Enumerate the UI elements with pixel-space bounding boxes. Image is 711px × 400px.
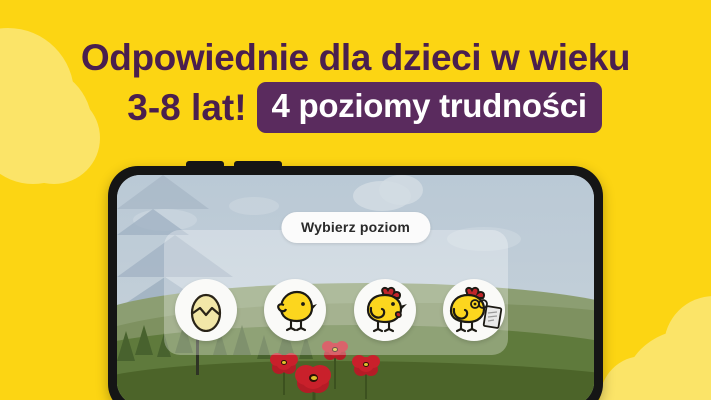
headline-block: Odpowiednie dla dzieci w wieku 3-8 lat! … <box>0 36 711 133</box>
level-button-2[interactable] <box>264 279 326 341</box>
pine-tree-icon <box>135 325 153 355</box>
poppy-flower <box>353 355 379 397</box>
poppy-stamen <box>282 361 286 364</box>
phone-mockup: Wybierz poziom <box>108 166 603 400</box>
poppy-flower <box>295 365 333 400</box>
headline-line-1: Odpowiednie dla dzieci w wieku <box>0 36 711 80</box>
level-select-title: Wybierz poziom <box>281 212 430 243</box>
level-button-3[interactable] <box>354 279 416 341</box>
difficulty-levels-badge: 4 poziomy trudności <box>257 82 602 133</box>
headline-line-2: 3-8 lat! 4 poziomy trudności <box>0 82 711 133</box>
decorative-blob <box>664 296 711 396</box>
age-range-text: 3-8 lat! <box>127 86 246 130</box>
hen-icon <box>360 285 410 335</box>
poppy-stamen <box>364 363 368 366</box>
chick-icon <box>272 287 318 333</box>
poppy-stem <box>283 369 285 395</box>
decorative-blob <box>600 356 686 400</box>
volume-button[interactable] <box>186 161 224 168</box>
mountain-shape <box>117 175 209 209</box>
decorative-blob <box>622 330 711 400</box>
poppy-stamen <box>311 376 317 380</box>
cloud-icon <box>229 197 279 215</box>
cloud-icon <box>379 175 423 205</box>
poppy-stem <box>365 371 367 399</box>
poppy-flower <box>271 353 297 393</box>
pine-tree-icon <box>117 331 135 361</box>
egg-icon <box>189 288 223 332</box>
level-button-4[interactable] <box>443 279 505 341</box>
promo-banner: Odpowiednie dla dzieci w wieku 3-8 lat! … <box>0 0 711 400</box>
level-button-1[interactable] <box>175 279 237 341</box>
teacher-hen-icon <box>445 285 503 335</box>
phone-screen: Wybierz poziom <box>117 175 594 400</box>
level-buttons-row <box>175 279 505 341</box>
power-button[interactable] <box>234 161 282 168</box>
poppy-stem <box>334 355 336 389</box>
